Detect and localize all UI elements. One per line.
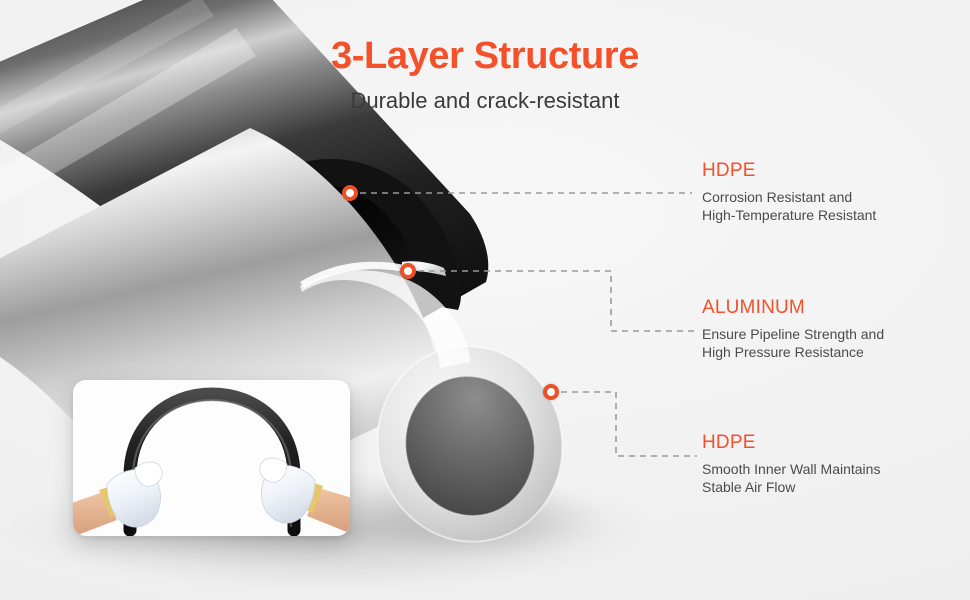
callout-hdpe-outer-line1: Corrosion Resistant and [702, 188, 952, 206]
connector-hdpe-inner [561, 392, 697, 456]
marker-hdpe-inner[interactable] [543, 384, 559, 400]
connector-aluminum [418, 271, 697, 331]
callout-aluminum-line1: Ensure Pipeline Strength and [702, 325, 952, 343]
callout-hdpe-outer-title: HDPE [702, 160, 952, 182]
callout-hdpe-inner-line1: Smooth Inner Wall Maintains [702, 460, 952, 478]
callout-aluminum-title: ALUMINUM [702, 297, 952, 319]
marker-hdpe-outer[interactable] [342, 185, 358, 201]
callout-hdpe-outer-line2: High-Temperature Resistant [702, 206, 952, 224]
infographic-canvas: 3-Layer Structure Durable and crack-resi… [0, 0, 970, 600]
callout-hdpe-inner-title: HDPE [702, 432, 952, 454]
callout-hdpe-outer: HDPE Corrosion Resistant and High-Temper… [702, 160, 952, 225]
callout-aluminum-body: Ensure Pipeline Strength and High Pressu… [702, 325, 952, 362]
callout-hdpe-inner: HDPE Smooth Inner Wall Maintains Stable … [702, 432, 952, 497]
callout-hdpe-inner-line2: Stable Air Flow [702, 478, 952, 496]
marker-aluminum[interactable] [400, 263, 416, 279]
callout-aluminum: ALUMINUM Ensure Pipeline Strength and Hi… [702, 297, 952, 362]
callout-hdpe-outer-body: Corrosion Resistant and High-Temperature… [702, 188, 952, 225]
callout-hdpe-inner-body: Smooth Inner Wall Maintains Stable Air F… [702, 460, 952, 497]
callout-aluminum-line2: High Pressure Resistance [702, 343, 952, 361]
